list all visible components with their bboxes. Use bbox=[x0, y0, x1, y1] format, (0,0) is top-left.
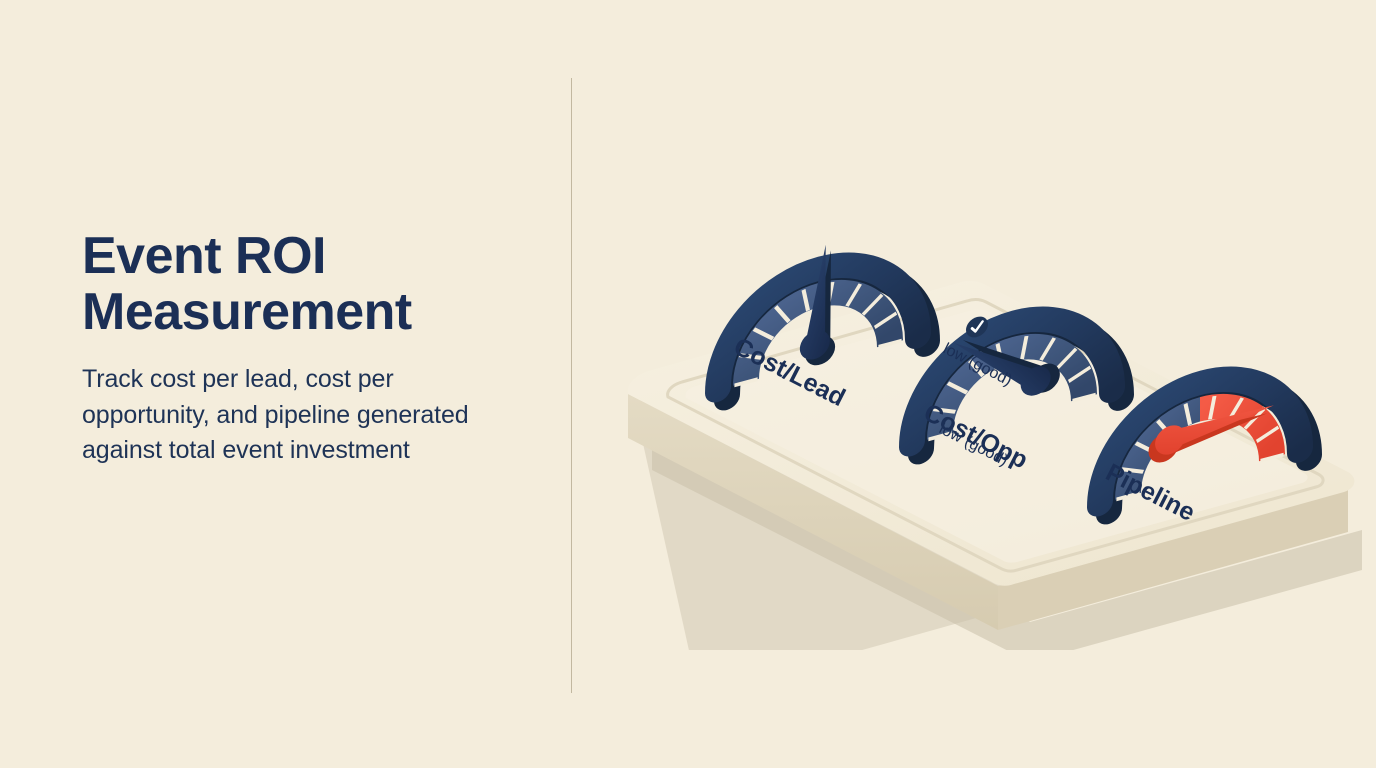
page-title: Event ROI Measurement bbox=[82, 228, 527, 340]
gauges-illustration: Cost/Lead bbox=[600, 130, 1376, 650]
text-column: Event ROI Measurement Track cost per lea… bbox=[82, 228, 527, 469]
page-subtitle: Track cost per lead, cost per opportunit… bbox=[82, 362, 527, 469]
vertical-divider bbox=[571, 78, 572, 693]
slide-root: Event ROI Measurement Track cost per lea… bbox=[0, 0, 1376, 768]
